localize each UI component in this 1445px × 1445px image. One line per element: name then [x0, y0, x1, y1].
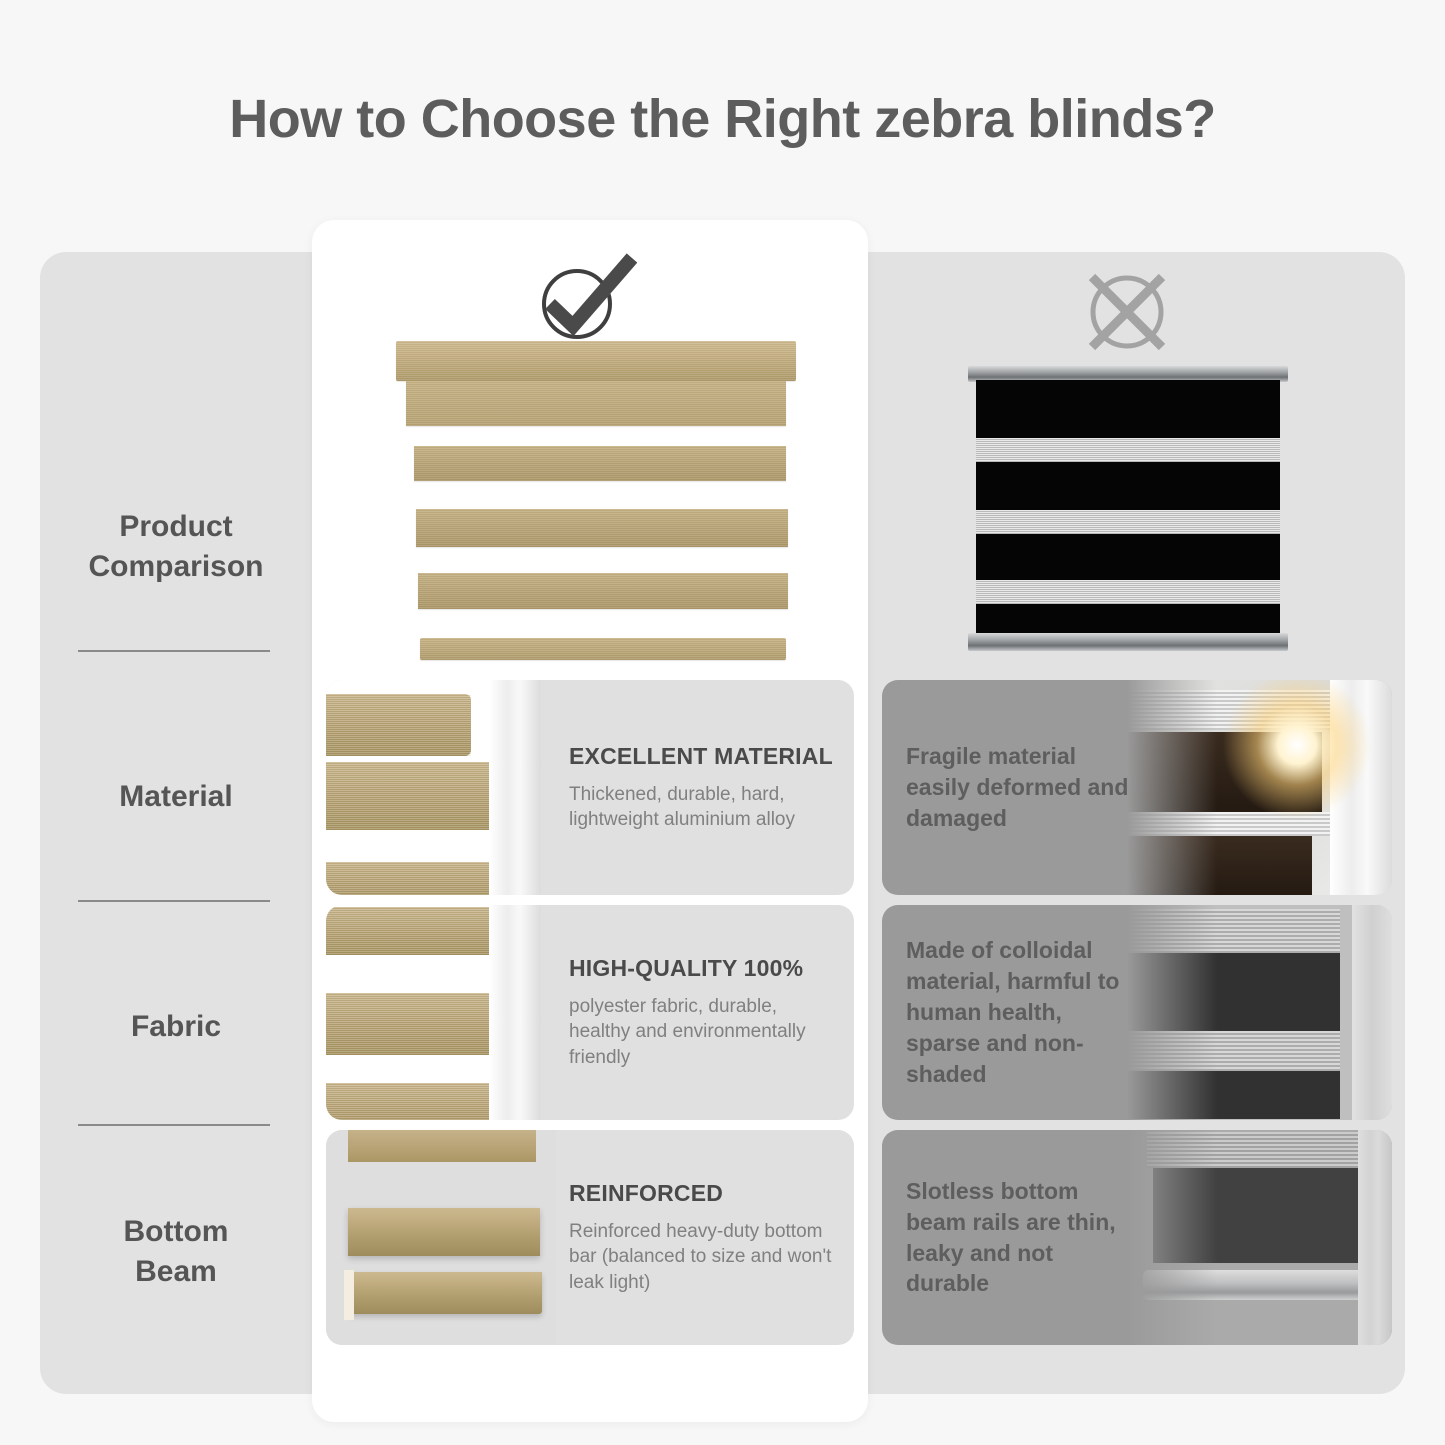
- photo-black-blind-sparse-fabric: [1127, 905, 1392, 1120]
- row-label-bottom-beam-line2: Beam: [135, 1255, 217, 1288]
- row-divider-2: [78, 900, 270, 902]
- good-card-bottom-beam-text: REINFORCED Reinforced heavy-duty bottom …: [569, 1130, 838, 1345]
- bad-card-material: Fragile material easily deformed and dam…: [882, 680, 1392, 895]
- row-divider-1: [78, 650, 270, 652]
- black-blind-bottom-rail: [968, 633, 1288, 651]
- check-circle-icon: [528, 252, 638, 344]
- good-card-material-body: Thickened, durable, hard, lightweight al…: [569, 782, 838, 832]
- good-card-bottom-beam: REINFORCED Reinforced heavy-duty bottom …: [326, 1130, 854, 1345]
- blind-band-1: [414, 446, 786, 481]
- blind-top-band: [406, 381, 786, 426]
- photo-beige-blind-headrail-closeup: [326, 680, 541, 895]
- row-label-column: Product Comparison Material Fabric Botto…: [40, 252, 312, 1394]
- photo-sunlight-leaking-through-deformed-blind: [1127, 680, 1392, 895]
- hero-image-beige-zebra-blind: [396, 341, 796, 661]
- row-label-material: Material: [40, 682, 312, 912]
- good-card-material-heading: EXCELLENT MATERIAL: [569, 743, 838, 770]
- bad-card-fabric: Made of colloidal material, harmful to h…: [882, 905, 1392, 1120]
- row-label-product-comparison-line2: Comparison: [88, 550, 263, 583]
- bad-card-bottom-beam-text: Slotless bottom beam rails are thin, lea…: [906, 1130, 1142, 1345]
- blind-band-3: [418, 573, 788, 609]
- blind-band-2: [416, 509, 788, 547]
- bad-card-material-text: Fragile material easily deformed and dam…: [906, 680, 1142, 895]
- hero-image-black-zebra-blind: [968, 366, 1288, 651]
- page-title: How to Choose the Right zebra blinds?: [0, 88, 1445, 150]
- row-label-bottom-beam: Bottom Beam: [40, 1137, 312, 1367]
- good-card-bottom-beam-heading: REINFORCED: [569, 1180, 838, 1207]
- bad-card-material-label: Fragile material easily deformed and dam…: [906, 741, 1142, 833]
- photo-beige-blind-bottom-bar: [326, 1130, 556, 1345]
- row-divider-3: [78, 1124, 270, 1126]
- blind-bottom-bar: [420, 638, 786, 660]
- row-label-fabric: Fabric: [40, 912, 312, 1142]
- black-blind-sheer-1: [976, 438, 1280, 462]
- good-card-fabric-body: polyester fabric, durable, healthy and e…: [569, 994, 838, 1069]
- good-card-material: EXCELLENT MATERIAL Thickened, durable, h…: [326, 680, 854, 895]
- black-blind-sheer-2: [976, 510, 1280, 534]
- good-card-fabric-text: HIGH-QUALITY 100% polyester fabric, dura…: [569, 905, 838, 1120]
- good-card-fabric: HIGH-QUALITY 100% polyester fabric, dura…: [326, 905, 854, 1120]
- photo-beige-blind-fabric-stripes: [326, 905, 541, 1120]
- bad-card-fabric-label: Made of colloidal material, harmful to h…: [906, 935, 1142, 1089]
- row-label-product-comparison-line1: Product: [119, 510, 232, 543]
- cross-circle-icon: [1072, 262, 1182, 362]
- photo-thin-silver-bottom-rail: [1127, 1130, 1392, 1345]
- bad-card-fabric-text: Made of colloidal material, harmful to h…: [906, 905, 1142, 1120]
- good-card-material-text: EXCELLENT MATERIAL Thickened, durable, h…: [569, 680, 838, 895]
- blind-headrail: [396, 341, 796, 381]
- black-blind-body: [976, 380, 1280, 635]
- good-card-bottom-beam-body: Reinforced heavy-duty bottom bar (balanc…: [569, 1219, 838, 1294]
- bad-card-bottom-beam: Slotless bottom beam rails are thin, lea…: [882, 1130, 1392, 1345]
- row-label-product-comparison: Product Comparison: [40, 432, 312, 662]
- bad-card-bottom-beam-label: Slotless bottom beam rails are thin, lea…: [906, 1176, 1142, 1299]
- row-label-bottom-beam-line1: Bottom: [124, 1215, 229, 1248]
- black-blind-sheer-3: [976, 580, 1280, 604]
- good-card-fabric-heading: HIGH-QUALITY 100%: [569, 955, 838, 982]
